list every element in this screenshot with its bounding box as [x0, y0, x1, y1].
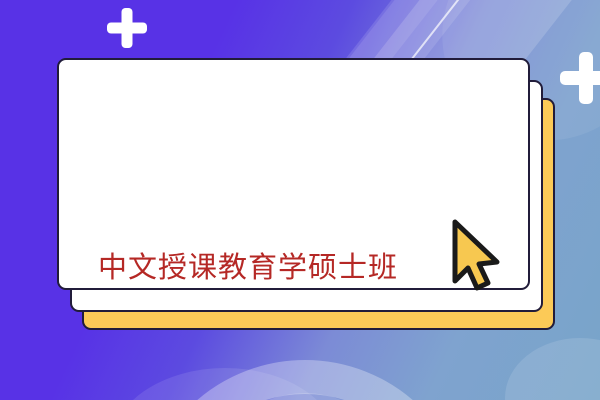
mouse-cursor-icon [447, 218, 509, 294]
headline-line-1: 中文授课教育学硕士班 [98, 236, 488, 298]
page-title: 中文授课教育学硕士班 的招生对象是谁？ [98, 112, 488, 400]
plus-icon [107, 8, 147, 48]
cursor-arrow-shape [455, 222, 497, 288]
plus-icon-bar-vertical [579, 52, 593, 104]
poster-canvas: 中文授课教育学硕士班 的招生对象是谁？ [0, 0, 600, 400]
plus-icon-bar-vertical [122, 8, 133, 48]
blob-shape [505, 338, 600, 400]
plus-icon [560, 52, 600, 104]
